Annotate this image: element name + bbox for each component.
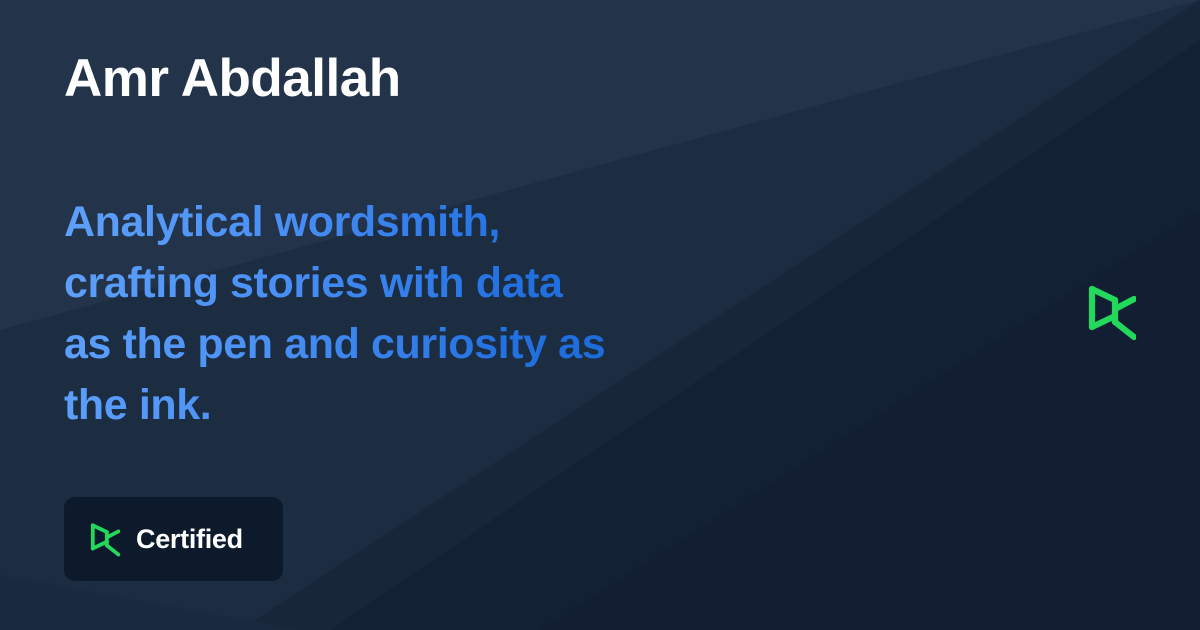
card-content: Amr Abdallah Analytical wordsmith, craft… bbox=[0, 0, 1200, 630]
tagline-line-3: as the pen and curiosity as bbox=[64, 314, 764, 375]
tagline-line-2: crafting stories with data bbox=[64, 253, 764, 314]
tagline: Analytical wordsmith, crafting stories w… bbox=[64, 192, 764, 436]
page-title: Amr Abdallah bbox=[64, 48, 401, 111]
tagline-line-1: Analytical wordsmith, bbox=[64, 192, 764, 253]
datacamp-dk-logo-icon bbox=[1088, 282, 1136, 341]
certified-badge: Certified bbox=[64, 497, 283, 581]
tagline-line-4: the ink. bbox=[64, 375, 764, 436]
certified-badge-label: Certified bbox=[136, 526, 243, 553]
datacamp-dk-logo-icon bbox=[90, 521, 120, 557]
og-card: Amr Abdallah Analytical wordsmith, craft… bbox=[0, 0, 1200, 630]
